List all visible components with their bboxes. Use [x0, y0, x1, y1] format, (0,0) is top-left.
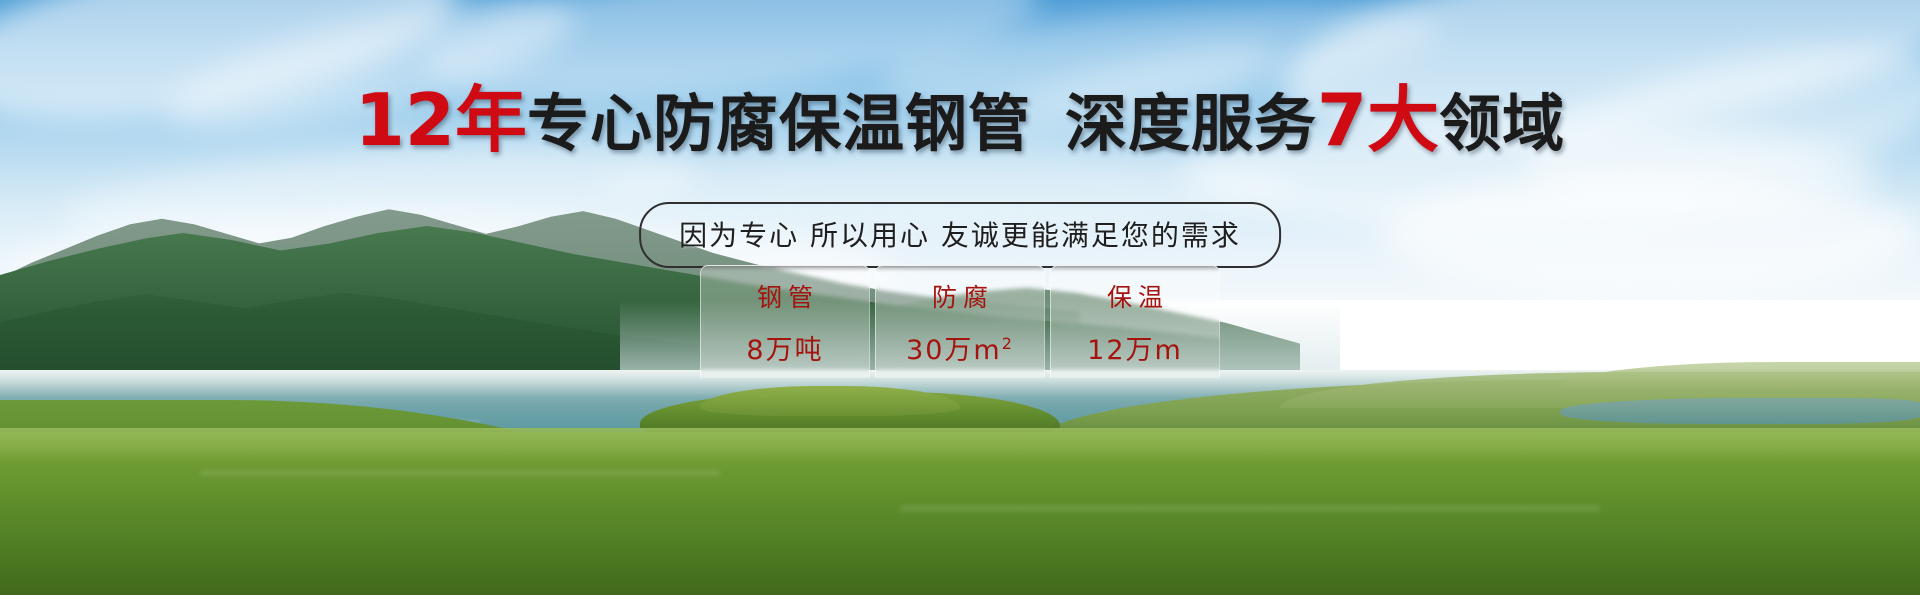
stat-card-value: 8万吨 [746, 328, 823, 367]
banner-headline: 12年专心防腐保温钢管深度服务7大领域 [0, 84, 1920, 156]
stat-card-insulation[interactable]: 保温 12万m [1050, 265, 1220, 378]
water-inlet [1560, 398, 1920, 424]
stat-card-value: 30万m2 [906, 328, 1014, 367]
headline-part-fields: 领域 [1439, 87, 1565, 160]
stat-card-value-text: 12万m [1087, 335, 1183, 366]
hero-banner: 12年专心防腐保温钢管深度服务7大领域 因为专心 所以用心 友诚更能满足您的需求… [0, 0, 1920, 595]
stat-card-value-text: 8万吨 [746, 335, 823, 366]
headline-fields-number: 7 [1317, 78, 1367, 162]
stat-card-steel-pipe[interactable]: 钢管 8万吨 [700, 265, 870, 378]
stat-card-anticorrosion[interactable]: 防腐 30万m2 [875, 265, 1045, 378]
stat-card-label: 钢管 [751, 278, 819, 314]
stat-card-label: 保温 [1101, 278, 1169, 314]
grass-texture [900, 505, 1600, 512]
headline-part-specialty: 专心防腐保温钢管 [527, 87, 1031, 160]
foreground-grass-edge [0, 428, 1920, 462]
headline-years-number: 12 [355, 78, 455, 162]
headline-part-service: 深度服务 [1065, 87, 1317, 160]
subtitle-pill: 因为专心 所以用心 友诚更能满足您的需求 [639, 202, 1281, 268]
stat-card-group: 钢管 8万吨 防腐 30万m2 保温 12万m [700, 265, 1220, 378]
stat-card-value-text: 30万m [906, 335, 1002, 366]
headline-fields-unit: 大 [1367, 78, 1439, 162]
right-bank-grass-farthest [1560, 362, 1920, 388]
grass-texture [200, 470, 720, 476]
headline-years-unit: 年 [455, 78, 527, 162]
subtitle-pill-text: 因为专心 所以用心 友诚更能满足您的需求 [679, 219, 1241, 252]
stat-card-value: 12万m [1087, 328, 1183, 367]
stat-card-value-superscript: 2 [1002, 334, 1014, 353]
cloud-shape [1380, 175, 1920, 295]
stat-card-label: 防腐 [926, 278, 994, 314]
